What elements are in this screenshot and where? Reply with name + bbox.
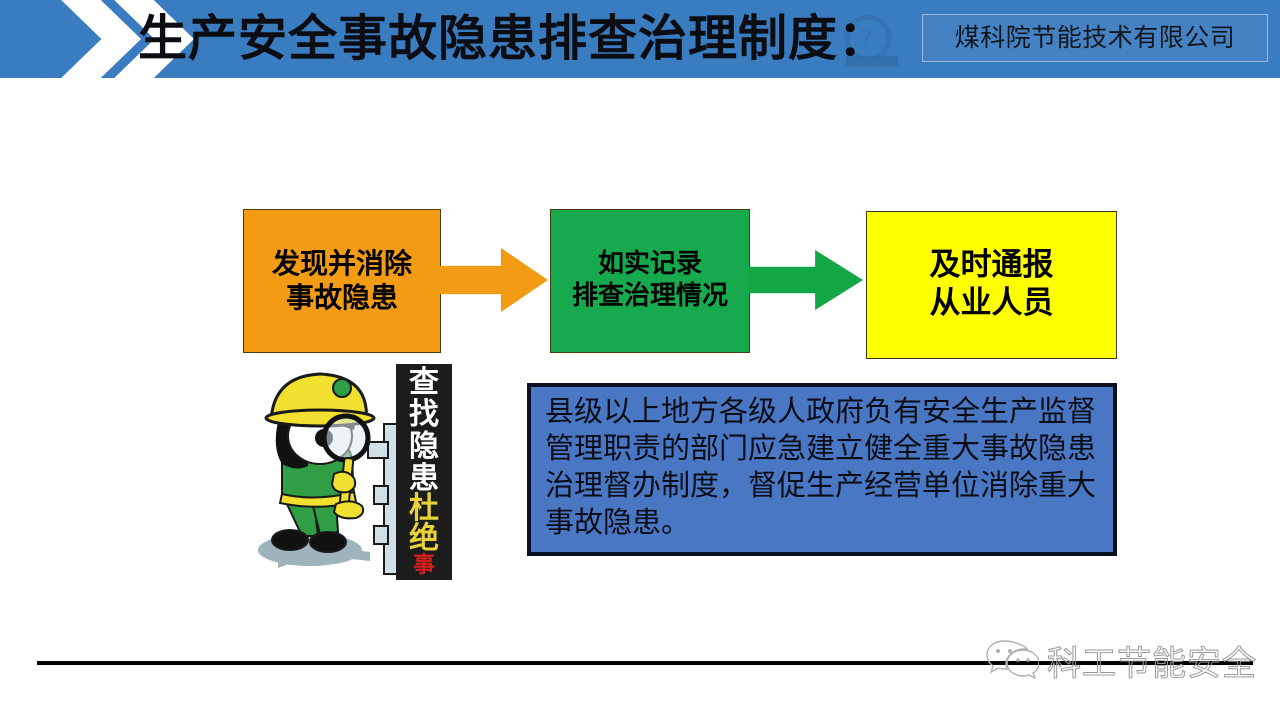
flow-step-line-1: 及时通报: [930, 247, 1054, 285]
flow-step-notify[interactable]: 及时通报 从业人员: [866, 211, 1117, 359]
arrow-right-icon-1: [436, 248, 548, 312]
flow-step-record[interactable]: 如实记录 排查治理情况: [550, 209, 750, 353]
flow-step-discover-eliminate[interactable]: 发现并消除 事故隐患: [243, 209, 441, 353]
svg-text:隐: 隐: [409, 429, 439, 464]
footer-brand: 科工节能安全: [985, 632, 1253, 688]
svg-text:绝: 绝: [409, 521, 439, 556]
flow-step-line-2: 从业人员: [930, 285, 1054, 323]
arrow-right-icon-2: [749, 250, 863, 310]
company-name-box: 煤科院节能技术有限公司: [922, 14, 1268, 62]
flow-step-line-2: 事故隐患: [286, 281, 398, 315]
wechat-icon: [985, 637, 1039, 683]
page-title: 生产安全事故隐患排查治理制度：: [138, 2, 888, 74]
flow-step-line-1: 如实记录: [598, 249, 702, 281]
footer-brand-text: 科工节能安全: [1047, 636, 1257, 685]
flow-step-line-2: 排查治理情况: [572, 281, 728, 313]
flow-step-line-1: 发现并消除: [272, 247, 412, 281]
worker-with-magnifier-illustration: 查 找 隐 患 杜 绝 事: [238, 362, 462, 584]
footer-divider: [37, 661, 1253, 665]
statement-box: 县级以上地方各级人政府负有安全生产监督管理职责的部门应急建立健全重大事故隐患治理…: [527, 383, 1117, 556]
svg-text:找: 找: [409, 397, 439, 432]
svg-text:查: 查: [409, 365, 439, 400]
svg-text:事: 事: [413, 552, 435, 578]
